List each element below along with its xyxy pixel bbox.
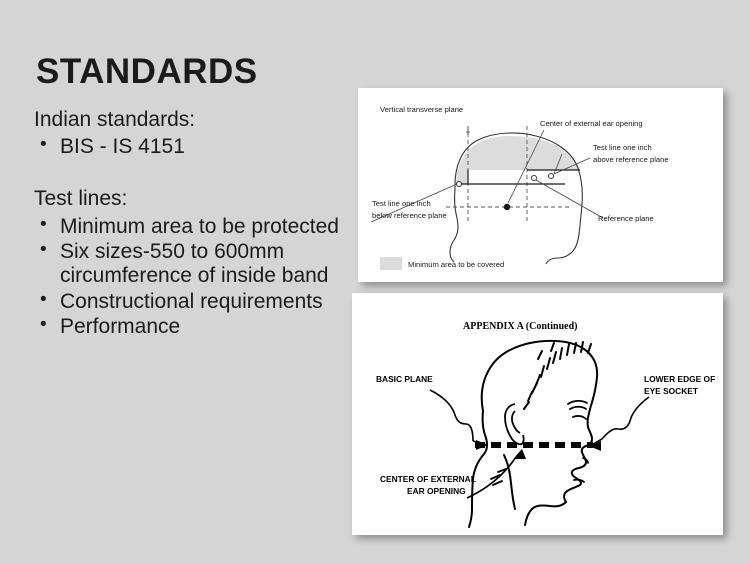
label-test-line-above-2: above reference plane bbox=[593, 155, 669, 164]
list-item: Constructional requirements bbox=[30, 290, 360, 314]
spacer bbox=[30, 160, 360, 186]
label-center-of-external-ear-opening: Center of external ear opening bbox=[540, 119, 643, 128]
page-title: STANDARDS bbox=[36, 54, 360, 91]
list-item: BIS - IS 4151 bbox=[30, 135, 360, 159]
label-lower-edge-of-eye-socket-1: LOWER EDGE OF bbox=[644, 374, 715, 384]
helmet-coverage-diagram: Vertical transverse plane Center of exte… bbox=[358, 88, 723, 282]
lead-test-lines: Test lines: bbox=[34, 186, 360, 212]
lead-indian-standards: Indian standards: bbox=[34, 107, 360, 133]
list-item: Performance bbox=[30, 315, 360, 339]
slide-canvas: STANDARDS Indian standards: BIS - IS 415… bbox=[0, 0, 750, 563]
list-item: Six sizes-550 to 600mm circumference of … bbox=[30, 240, 360, 289]
legend-label-minimum-area: Minimum area to be covered bbox=[408, 260, 504, 269]
slide-text-column: STANDARDS Indian standards: BIS - IS 415… bbox=[30, 54, 360, 340]
label-lower-edge-of-eye-socket-2: EYE SOCKET bbox=[644, 386, 699, 396]
label-test-line-below-1: Test line one inch bbox=[372, 199, 431, 208]
label-reference-plane: Reference plane bbox=[598, 214, 654, 223]
bullet-list-standards: BIS - IS 4151 bbox=[30, 135, 360, 159]
legend-swatch bbox=[380, 257, 402, 270]
basic-plane-head-profile-diagram: APPENDIX A (Continued) bbox=[352, 293, 723, 535]
label-test-line-above-1: Test line one inch bbox=[593, 143, 652, 152]
bullet-list-test-lines: Minimum area to be protected Six sizes-5… bbox=[30, 215, 360, 340]
figure-title-appendix: APPENDIX A (Continued) bbox=[463, 321, 577, 332]
label-center-of-external-ear-opening-2: EAR OPENING bbox=[407, 486, 466, 496]
label-center-of-external-ear-opening-1: CENTER OF EXTERNAL bbox=[380, 474, 476, 484]
label-test-line-below-2: below reference plane bbox=[372, 211, 447, 220]
list-item: Minimum area to be protected bbox=[30, 215, 360, 239]
label-basic-plane: BASIC PLANE bbox=[376, 374, 433, 384]
label-vertical-transverse-plane: Vertical transverse plane bbox=[380, 105, 463, 114]
